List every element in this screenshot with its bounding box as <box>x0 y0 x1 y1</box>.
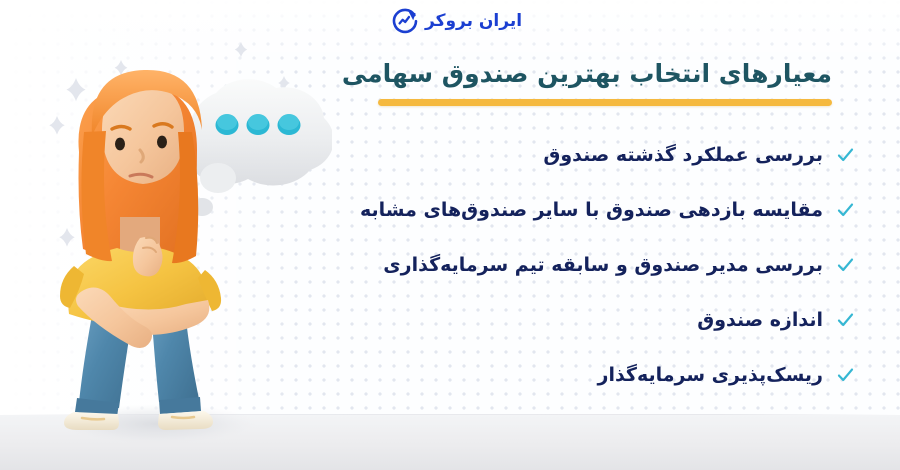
thinking-woman-3d-illustration <box>22 32 332 452</box>
criteria-label: ریسک‌پذیری سرمایه‌گذار <box>598 363 824 389</box>
criteria-label: اندازه صندوق <box>697 308 823 334</box>
poster-canvas: ایران بروکر معیارهای انتخاب بهترین صندوق… <box>0 0 900 470</box>
check-icon <box>837 147 854 164</box>
list-item: اندازه صندوق <box>294 293 854 348</box>
criteria-label: مقایسه بازدهی صندوق با سایر صندوق‌های مش… <box>360 198 823 224</box>
eye-left <box>115 138 125 151</box>
check-icon <box>837 202 854 219</box>
criteria-label: بررسی مدیر صندوق و سابقه تیم سرمایه‌گذار… <box>383 253 823 279</box>
hand <box>133 237 163 276</box>
criteria-label: بررسی عملکرد گذشته صندوق <box>543 143 823 169</box>
criteria-list: بررسی عملکرد گذشته صندوق مقایسه بازدهی ص… <box>294 128 854 403</box>
chart-arrow-circle-icon <box>392 8 418 34</box>
check-icon <box>837 257 854 274</box>
brand-logo[interactable]: ایران بروکر <box>392 8 522 34</box>
list-item: ریسک‌پذیری سرمایه‌گذار <box>294 348 854 403</box>
title-underline <box>378 99 832 106</box>
list-item: بررسی مدیر صندوق و سابقه تیم سرمایه‌گذار… <box>294 238 854 293</box>
list-item: بررسی عملکرد گذشته صندوق <box>294 128 854 183</box>
check-icon <box>837 312 854 329</box>
check-icon <box>837 367 854 384</box>
page-title: معیارهای انتخاب بهترین صندوق سهامی <box>312 58 832 89</box>
brand-logo-text: ایران بروکر <box>425 13 522 30</box>
eye-right <box>157 136 167 149</box>
thought-dots <box>216 114 301 135</box>
list-item: مقایسه بازدهی صندوق با سایر صندوق‌های مش… <box>294 183 854 238</box>
